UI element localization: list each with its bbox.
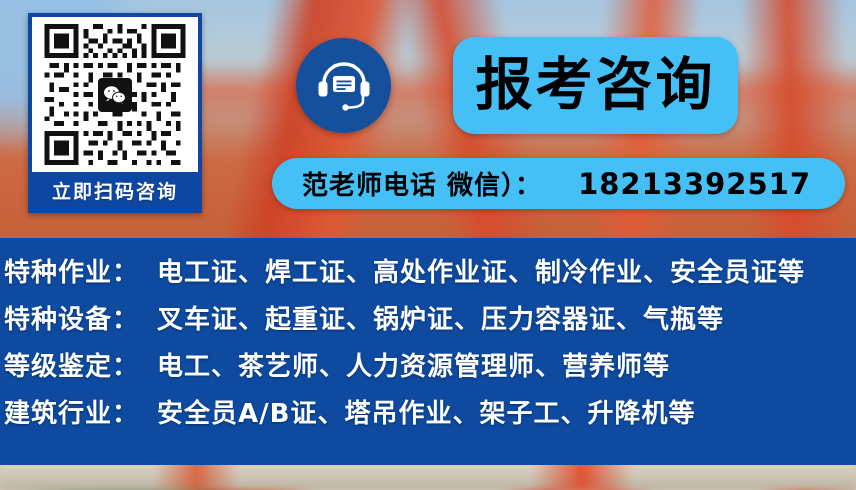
category-row-special-equipment: 特种设备： 叉车证、起重证、锅炉证、压力容器证、气瓶等 [0,299,856,346]
category-items: 电工、茶艺师、人力资源管理师、营养师等 [157,346,670,383]
promo-poster: 立即扫码咨询 报考咨询 范老师电话 微信）： 18213392517 特种作业：… [0,0,856,490]
category-label: 建筑行业： [4,393,139,430]
category-row-special-operations: 特种作业： 电工证、焊工证、高处作业证、制冷作业、安全员证等 [0,252,856,299]
qr-code-card[interactable]: 立即扫码咨询 [28,13,202,213]
qr-caption: 立即扫码咨询 [32,172,198,209]
category-row-grade-appraisal: 等级鉴定： 电工、茶艺师、人力资源管理师、营养师等 [0,346,856,393]
category-list-panel: 特种作业： 电工证、焊工证、高处作业证、制冷作业、安全员证等 特种设备： 叉车证… [0,238,856,465]
wechat-logo-icon [98,78,132,112]
category-row-construction-industry: 建筑行业： 安全员A/B证、塔吊作业、架子工、升降机等 [0,393,856,440]
title-banner: 报考咨询 [453,37,738,134]
headset-support-icon [315,57,373,115]
category-label: 等级鉴定： [4,346,139,383]
page-title: 报考咨询 [476,57,716,114]
category-items: 电工证、焊工证、高处作业证、制冷作业、安全员证等 [157,252,805,289]
category-label: 特种设备： [4,299,139,336]
category-items: 安全员A/B证、塔吊作业、架子工、升降机等 [157,393,695,430]
category-items: 叉车证、起重证、锅炉证、压力容器证、气瓶等 [157,299,724,336]
contact-label: 范老师电话 微信）： [302,165,542,202]
contact-pill[interactable]: 范老师电话 微信）： 18213392517 [272,158,845,209]
contact-number[interactable]: 18213392517 [578,167,811,201]
headset-support-badge [296,38,391,133]
wechat-glyph [103,85,127,105]
category-label: 特种作业： [4,252,139,289]
qr-code-image[interactable] [32,17,198,172]
